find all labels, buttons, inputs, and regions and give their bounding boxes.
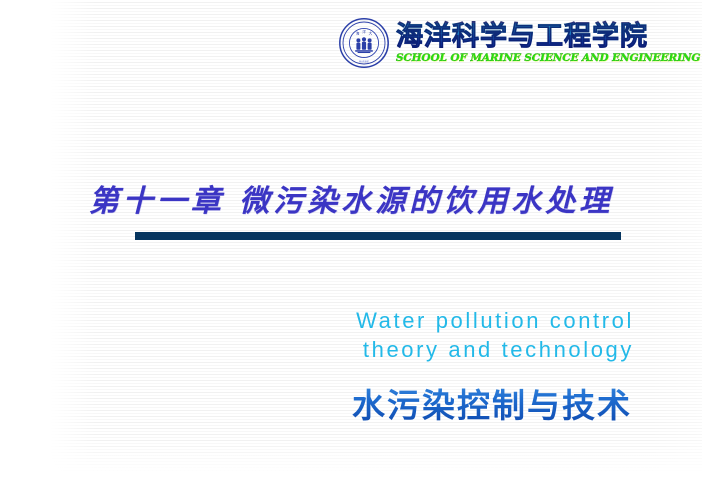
page-title: 第十一章 微污染水源的饮用水处理 — [0, 176, 702, 220]
university-seal-icon: 海 洋 大 MARINE — [338, 17, 390, 69]
course-subtitle-cn: 水污染控制与技术 — [0, 379, 632, 427]
slide-canvas: 海 洋 大 MARINE 海洋科学与工程学院 SCHOOL OF MARINE … — [0, 0, 702, 496]
course-subtitle-en: Water pollution control theory and techn… — [0, 306, 634, 364]
svg-text:海: 海 — [356, 30, 360, 35]
svg-text:MARINE: MARINE — [359, 59, 370, 63]
school-name-cn: 海洋科学与工程学院 — [396, 23, 700, 50]
school-header-text: 海洋科学与工程学院 SCHOOL OF MARINE SCIENCE AND E… — [396, 23, 700, 64]
course-subtitle-en-line2: theory and technology — [0, 335, 634, 364]
background-texture-fade — [50, 440, 702, 480]
svg-text:洋: 洋 — [362, 29, 366, 34]
school-header: 海 洋 大 MARINE 海洋科学与工程学院 SCHOOL OF MARINE … — [338, 8, 656, 78]
school-name-en: SCHOOL OF MARINE SCIENCE AND ENGINEERING — [396, 53, 700, 64]
title-divider — [135, 232, 621, 240]
svg-text:大: 大 — [369, 30, 373, 35]
course-subtitle-en-line1: Water pollution control — [0, 306, 634, 335]
